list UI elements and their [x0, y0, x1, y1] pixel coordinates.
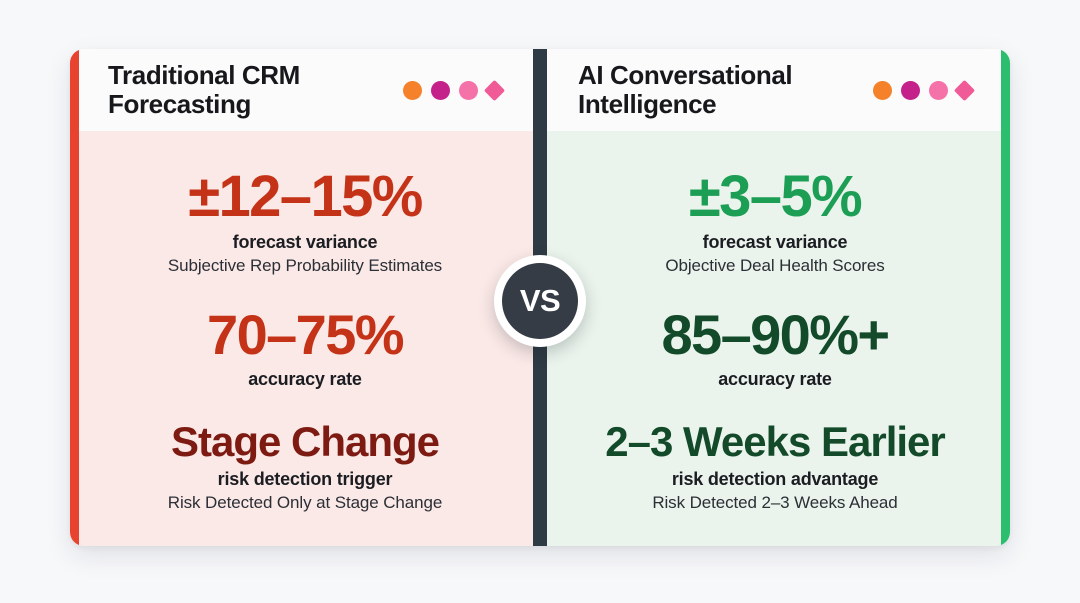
panel-traditional-crm: Traditional CRM Forecasting ±12–15% fore…	[70, 49, 540, 546]
metric-value-right-risk: 2–3 Weeks Earlier	[570, 421, 980, 463]
metric-label-left-variance: forecast variance	[100, 232, 510, 253]
diamond-pink-icon	[484, 79, 505, 100]
metric-label-right-accuracy: accuracy rate	[570, 369, 980, 390]
dot-orange-icon	[403, 81, 422, 100]
panel-ai-conversational-intelligence: AI Conversational Intelligence ±3–5% for…	[540, 49, 1010, 546]
panel-title-left: Traditional CRM Forecasting	[108, 61, 300, 119]
metric-sub-right-variance: Objective Deal Health Scores	[570, 256, 980, 276]
metric-label-right-variance: forecast variance	[570, 232, 980, 253]
metric-block-right-variance: ±3–5% forecast variance Objective Deal H…	[570, 168, 980, 276]
vs-badge: VS	[494, 255, 586, 347]
panel-body-left: ±12–15% forecast variance Subjective Rep…	[70, 131, 540, 546]
metric-block-right-risk: 2–3 Weeks Earlier risk detection advanta…	[570, 421, 980, 513]
panel-header-right: AI Conversational Intelligence	[540, 49, 1010, 131]
dot-pink-icon	[929, 81, 948, 100]
metric-label-right-risk: risk detection advantage	[570, 469, 980, 490]
metric-value-left-risk: Stage Change	[100, 421, 510, 463]
metric-block-left-accuracy: 70–75% accuracy rate	[100, 307, 510, 390]
dot-magenta-icon	[431, 81, 450, 100]
panel-body-right: ±3–5% forecast variance Objective Deal H…	[540, 131, 1010, 546]
metric-block-left-risk: Stage Change risk detection trigger Risk…	[100, 421, 510, 513]
comparison-infographic: Traditional CRM Forecasting ±12–15% fore…	[0, 0, 1080, 603]
metric-value-right-variance: ±3–5%	[570, 168, 980, 226]
panel-title-right: AI Conversational Intelligence	[578, 61, 792, 119]
dot-orange-icon	[873, 81, 892, 100]
accent-bar-left	[70, 49, 79, 546]
metric-sub-left-risk: Risk Detected Only at Stage Change	[100, 493, 510, 513]
metric-value-right-accuracy: 85–90%+	[570, 307, 980, 363]
decor-dot-cluster-left	[403, 81, 506, 100]
metric-label-left-accuracy: accuracy rate	[100, 369, 510, 390]
dot-magenta-icon	[901, 81, 920, 100]
metric-label-left-risk: risk detection trigger	[100, 469, 510, 490]
accent-bar-right	[1001, 49, 1010, 546]
panel-header-left: Traditional CRM Forecasting	[70, 49, 540, 131]
metric-block-left-variance: ±12–15% forecast variance Subjective Rep…	[100, 168, 510, 276]
metric-sub-right-risk: Risk Detected 2–3 Weeks Ahead	[570, 493, 980, 513]
diamond-pink-icon	[954, 79, 975, 100]
decor-dot-cluster-right	[873, 81, 976, 100]
dot-pink-icon	[459, 81, 478, 100]
metric-value-left-variance: ±12–15%	[100, 168, 510, 226]
vs-badge-label: VS	[502, 263, 578, 339]
metric-value-left-accuracy: 70–75%	[100, 307, 510, 363]
metric-sub-left-variance: Subjective Rep Probability Estimates	[100, 256, 510, 276]
metric-block-right-accuracy: 85–90%+ accuracy rate	[570, 307, 980, 390]
